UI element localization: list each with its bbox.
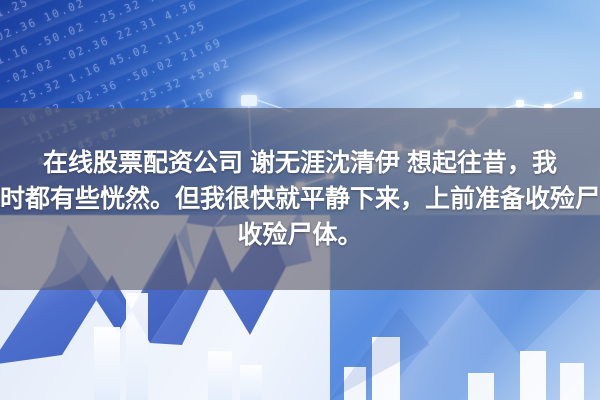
headline-line-2: 时都有些恍然。但我很快就平静下来，上前准备收殓尸 [0, 181, 600, 217]
headline-block: 在线股票配资公司 谢无涯沈清伊 想起往昔，我 时都有些恍然。但我很快就平静下来，… [0, 108, 600, 290]
headline-line-1: 在线股票配资公司 谢无涯沈清伊 想起往昔，我 [43, 145, 557, 181]
banner-image: 21.69 -02.36 45.02 -11.25 -25.32 +5.02 -… [0, 0, 600, 400]
headline-line-3: 收殓尸体。 [237, 217, 362, 253]
